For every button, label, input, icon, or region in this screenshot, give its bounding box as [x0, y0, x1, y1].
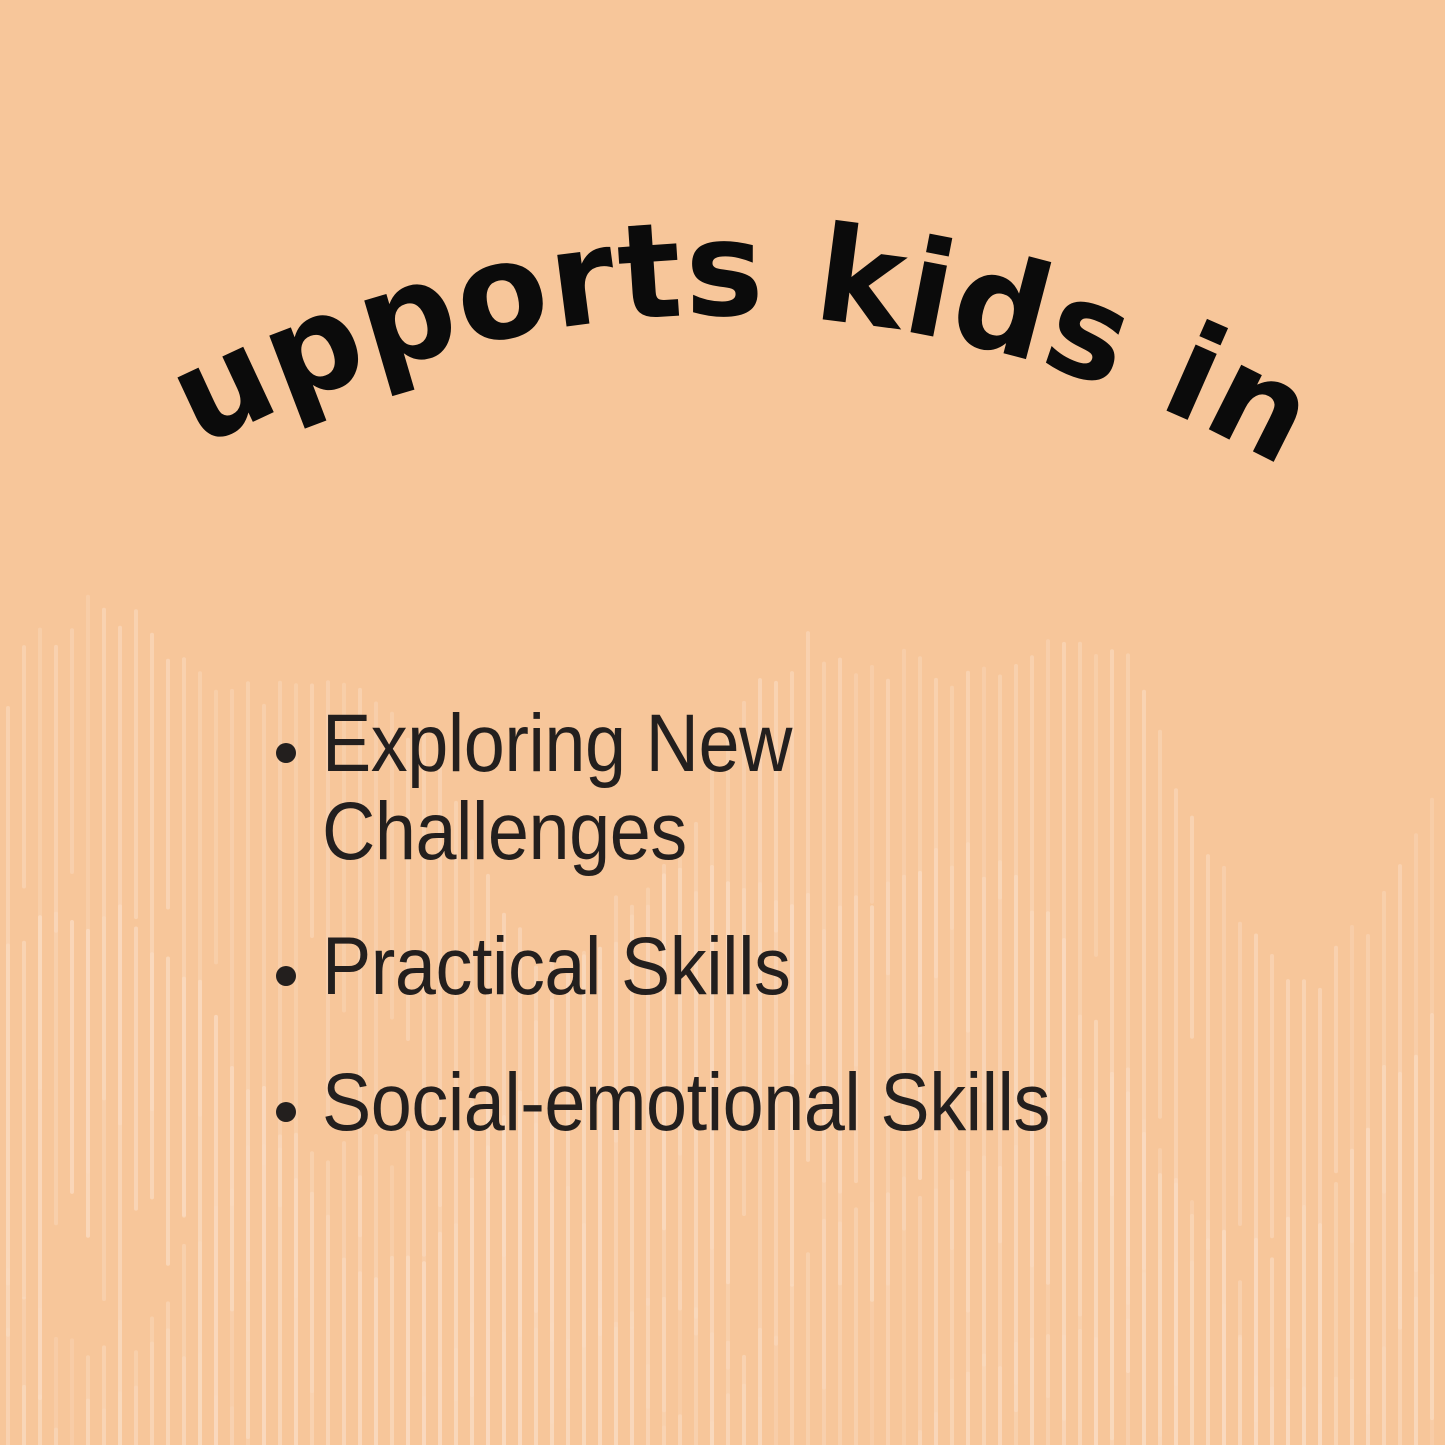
list-item: Exploring New Challenges	[276, 700, 1386, 875]
bullet-dot-icon	[276, 966, 296, 986]
headline-text: Supports kids in:	[0, 28, 1339, 496]
list-item-label: Practical Skills	[322, 923, 791, 1011]
list-item-label: Social-emotional Skills	[322, 1059, 1050, 1147]
list-item-label: Exploring New Challenges	[322, 700, 792, 875]
list-item: Practical Skills	[276, 923, 1386, 1011]
supports-list: Exploring New Challenges Practical Skill…	[276, 700, 1386, 1147]
poster-canvas: Supports kids in: Exploring New Challeng…	[0, 0, 1445, 1445]
list-item: Social-emotional Skills	[276, 1059, 1386, 1147]
bullet-dot-icon	[276, 743, 296, 763]
headline-arc: Supports kids in:	[0, 150, 1445, 550]
bullet-dot-icon	[276, 1102, 296, 1122]
